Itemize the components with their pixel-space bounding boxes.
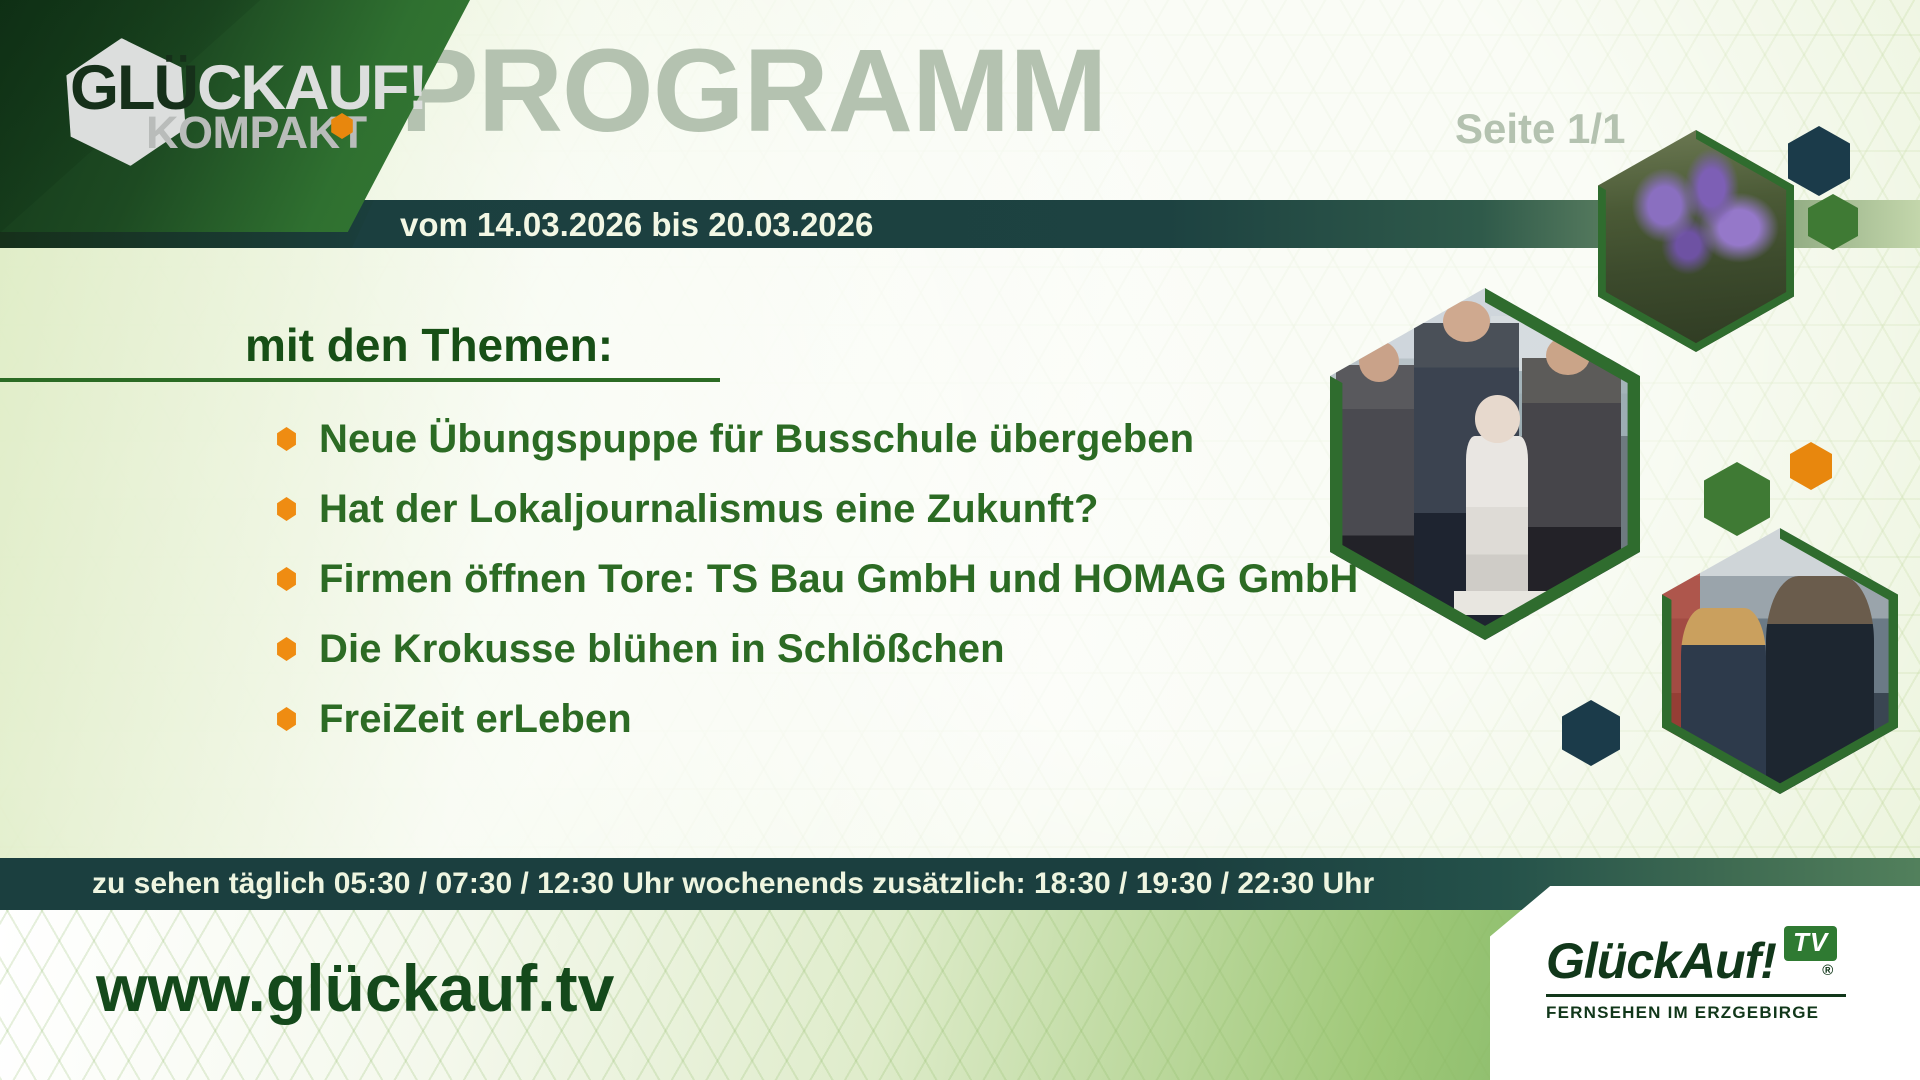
topic-label: FreiZeit erLeben: [319, 697, 632, 742]
topics-heading-rule: [0, 378, 720, 382]
page-title: PROGRAMM: [400, 32, 1107, 150]
hexagon-bullet-icon: [276, 637, 297, 661]
badge-tagline: FERNSEHEN IM ERZGEBIRGE: [1546, 1003, 1846, 1023]
page-indicator: Seite 1/1: [1455, 105, 1625, 153]
topics-heading: mit den Themen:: [245, 318, 613, 372]
badge-tv-label: TV: [1784, 926, 1837, 961]
list-item: FreiZeit erLeben: [276, 684, 1358, 754]
hexagon-bullet-icon: [276, 497, 297, 521]
footer-bar: www.glückauf.tv GlückAuf! TV ® FERNSEHEN…: [0, 910, 1920, 1080]
badge-exclamation: !: [1760, 933, 1776, 989]
hexagon-bullet-icon: [276, 707, 297, 731]
badge-brand-name: GlückAuf: [1546, 933, 1760, 989]
registered-trademark-icon: ®: [1822, 962, 1832, 979]
badge-rule: [1546, 994, 1846, 997]
hexagon-bullet-icon: [276, 567, 297, 591]
list-item: Firmen öffnen Tore: TS Bau GmbH und HOMA…: [276, 544, 1358, 614]
training-doll: [1466, 436, 1528, 605]
hexagon-bullet-icon: [276, 427, 297, 451]
topic-label: Die Krokusse blühen in Schlößchen: [319, 627, 1005, 672]
topic-label: Neue Übungspuppe für Busschule übergeben: [319, 417, 1194, 462]
broadcast-schedule-label: zu sehen täglich 05:30 / 07:30 / 12:30 U…: [92, 867, 1374, 901]
programm-slide: GLÜCKAUF! KOMPAKT PROGRAMM Seite 1/1 vom…: [0, 0, 1920, 1080]
list-item: Hat der Lokaljournalismus eine Zukunft?: [276, 474, 1358, 544]
list-item: Die Krokusse blühen in Schlößchen: [276, 614, 1358, 684]
topics-list: Neue Übungspuppe für Busschule übergeben…: [276, 404, 1358, 754]
topic-label: Firmen öffnen Tore: TS Bau GmbH und HOMA…: [319, 557, 1358, 602]
glueckauf-tv-logo-badge: GlückAuf! TV ® FERNSEHEN IM ERZGEBIRGE: [1490, 886, 1920, 1080]
glueckauf-kompakt-logo: GLÜCKAUF! KOMPAKT: [70, 60, 426, 153]
website-url[interactable]: www.glückauf.tv: [96, 950, 614, 1026]
date-range-label: vom 14.03.2026 bis 20.03.2026: [400, 206, 873, 244]
topic-label: Hat der Lokaljournalismus eine Zukunft?: [319, 487, 1099, 532]
list-item: Neue Übungspuppe für Busschule übergeben: [276, 404, 1358, 474]
